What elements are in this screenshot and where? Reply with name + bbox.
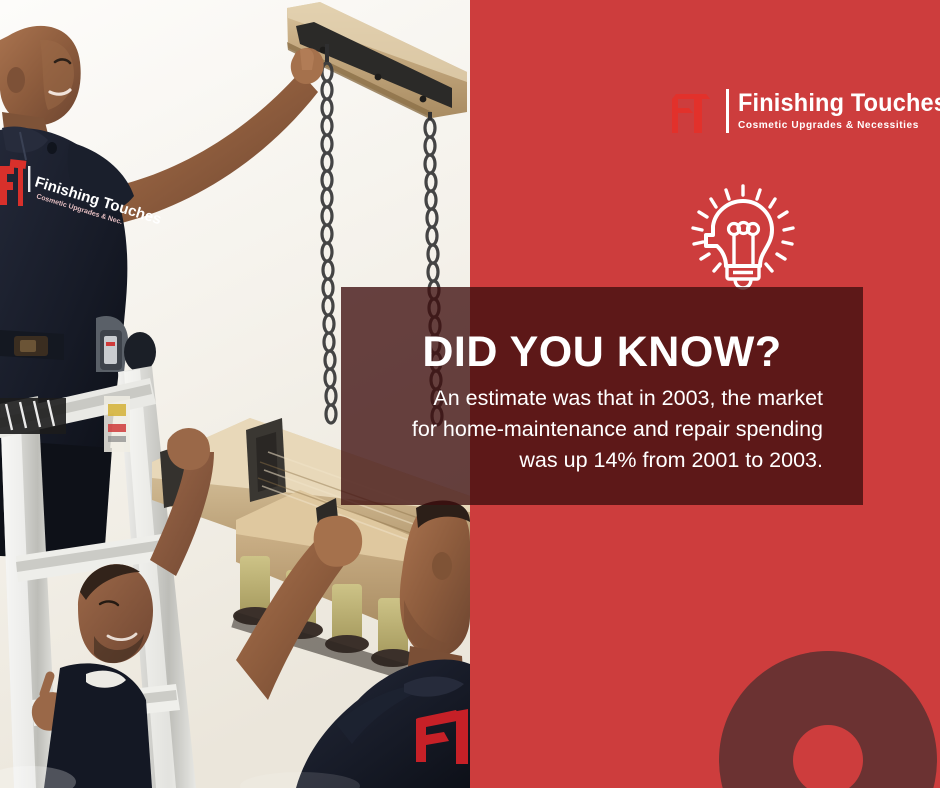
idea-head-lightbulb-icon bbox=[685, 182, 801, 290]
brand-name: Finishing Touches bbox=[738, 90, 940, 116]
logo-wordmark: Finishing Touches Cosmetic Upgrades & Ne… bbox=[738, 90, 940, 132]
logo-divider bbox=[726, 89, 729, 133]
callout-body: An estimate was that in 2003, the market… bbox=[353, 383, 823, 476]
callout-body-line-1: An estimate was that in 2003, the market bbox=[353, 383, 823, 414]
brand-logo[interactable]: Finishing Touches Cosmetic Upgrades & Ne… bbox=[672, 84, 940, 138]
callout-content: DID YOU KNOW? An estimate was that in 20… bbox=[341, 287, 863, 505]
callout-headline: DID YOU KNOW? bbox=[378, 331, 826, 374]
ft-monogram-icon bbox=[672, 89, 718, 133]
poster-canvas: Finishing Touches Cosmetic Upgrades & Ne… bbox=[0, 0, 940, 788]
donut-ring-hole bbox=[793, 725, 863, 788]
callout-body-line-2: for home-maintenance and repair spending bbox=[353, 414, 823, 445]
callout-body-line-3: was up 14% from 2001 to 2003. bbox=[353, 445, 823, 476]
brand-tagline: Cosmetic Upgrades & Necessities bbox=[738, 118, 940, 132]
